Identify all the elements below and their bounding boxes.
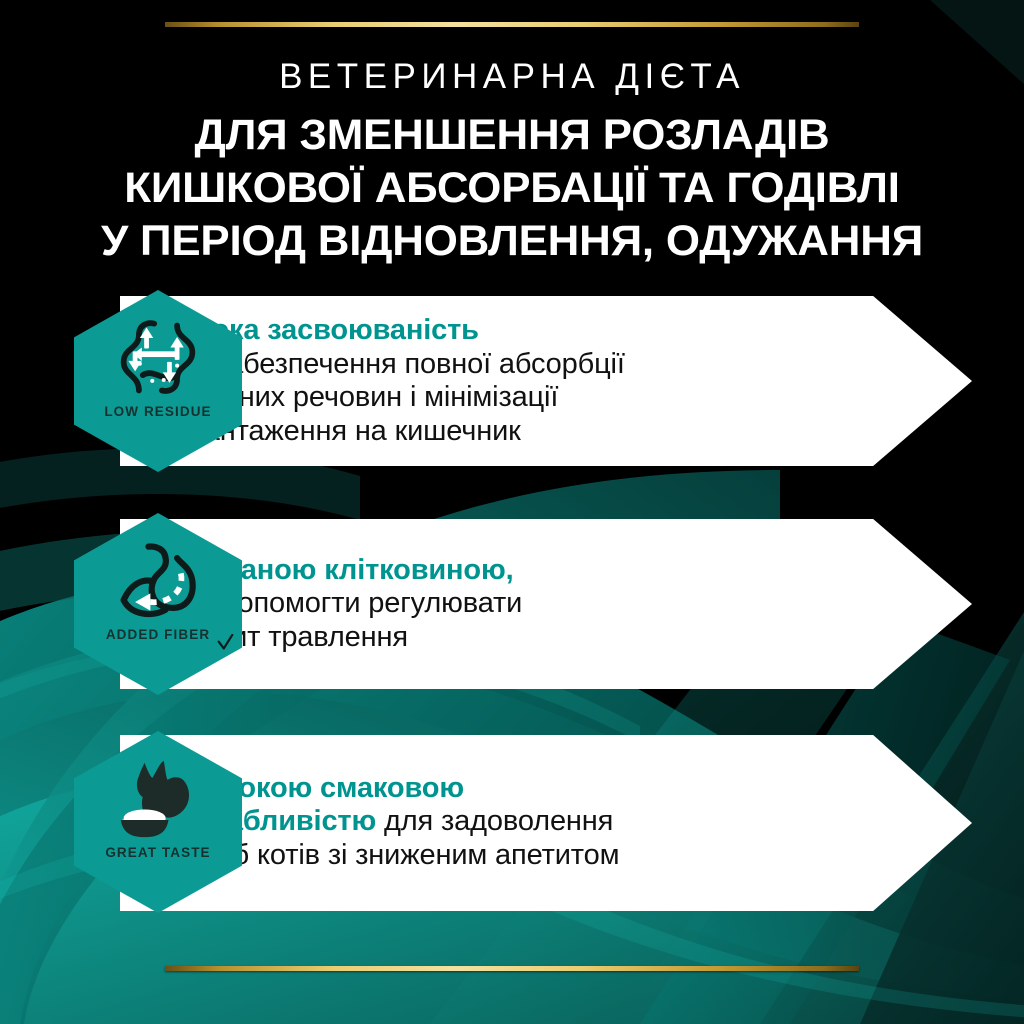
feature-line: транзит травлення: [157, 621, 827, 655]
feature-row-great-taste: Із високою смаковою привабливістю для за…: [0, 731, 1024, 913]
feature-line: поживних речовин і мінімізації: [157, 381, 827, 415]
promo-banner-canvas: ВЕТЕРИНАРНА ДІЄТА ДЛЯ ЗМЕНШЕННЯ РОЗЛАДІВ…: [0, 0, 1024, 1024]
badge-label: LOW RESIDUE: [104, 404, 211, 419]
feature-line: Висока засвоюваність: [157, 314, 827, 348]
stomach-arrow-icon: [110, 539, 206, 623]
feature-plain: для задоволення: [376, 805, 613, 837]
badge-label: GREAT TASTE: [105, 845, 210, 860]
heading-block: ВЕТЕРИНАРНА ДІЄТА ДЛЯ ЗМЕНШЕННЯ РОЗЛАДІВ…: [0, 56, 1024, 268]
feature-line: привабливістю для задоволення: [157, 805, 827, 839]
gold-divider-top: [165, 22, 859, 27]
feature-line: навантаження на кишечник: [157, 415, 827, 449]
heading-line-3: У ПЕРІОД ВІДНОВЛЕННЯ, ОДУЖАННЯ: [0, 215, 1024, 268]
feature-line: потреб котів зі зниженим апетитом: [157, 839, 827, 873]
intestine-arrows-icon: [110, 316, 206, 400]
feature-line: Із високою смаковою: [157, 772, 827, 806]
feature-row-added-fiber: Із доданою клітковиною, щоб допомогти ре…: [0, 513, 1024, 695]
heading-line-2: КИШКОВОЇ АБСОРБАЦІЇ ТА ГОДІВЛІ: [0, 162, 1024, 215]
heading-line-1: ДЛЯ ЗМЕНШЕННЯ РОЗЛАДІВ: [0, 109, 1024, 162]
heading-title: ДЛЯ ЗМЕНШЕННЯ РОЗЛАДІВ КИШКОВОЇ АБСОРБАЦ…: [0, 109, 1024, 268]
check-mark-icon: [217, 634, 234, 651]
feature-line: щоб допомогти регулювати: [157, 587, 827, 621]
cat-food-bowl-icon: [110, 757, 206, 841]
feature-text-great-taste: Із високою смаковою привабливістю для за…: [157, 731, 827, 913]
heading-eyebrow: ВЕТЕРИНАРНА ДІЄТА: [0, 56, 1024, 98]
gold-divider-bottom: [165, 966, 859, 971]
feature-line: Із доданою клітковиною,: [157, 554, 827, 588]
feature-text-low-residue: Висока засвоюваність для забезпечення по…: [157, 290, 827, 472]
badge-label: ADDED FIBER: [106, 627, 210, 642]
feature-line: для забезпечення повної абсорбції: [157, 348, 827, 382]
feature-row-low-residue: Висока засвоюваність для забезпечення по…: [0, 290, 1024, 472]
feature-text-added-fiber: Із доданою клітковиною, щоб допомогти ре…: [157, 513, 827, 695]
